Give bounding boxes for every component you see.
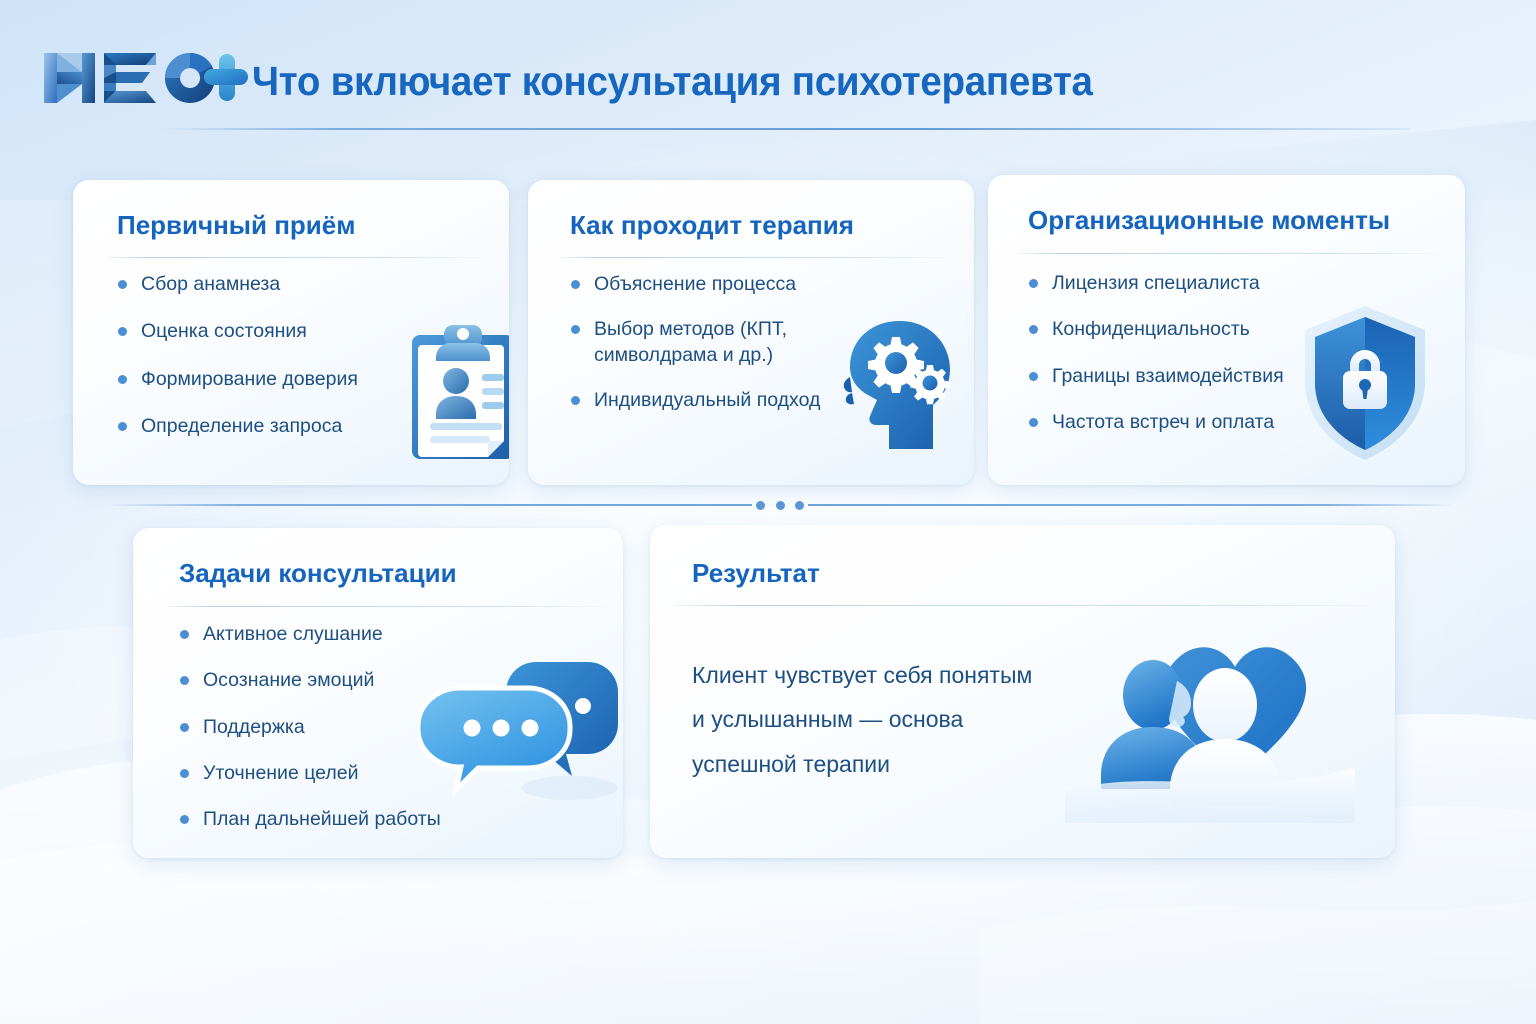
- result-body-text: Клиент чувствует себя понятым и услышанн…: [692, 653, 1092, 786]
- card-organizational: Организационные моменты Лицензия специал…: [988, 175, 1465, 485]
- card-title-divider: [674, 605, 1369, 606]
- card-therapy-process: Как проходит терапия Объяснение процесса…: [528, 180, 974, 485]
- card-consultation-tasks: Задачи консультации Активное слушание Ос…: [133, 528, 623, 858]
- list-item: Осознание эмоций: [177, 668, 441, 693]
- heart-people-icon: [1065, 623, 1355, 823]
- card-title: Как проходит терапия: [570, 210, 854, 241]
- page-title: Что включает консультация психотерапевта: [252, 58, 1093, 105]
- list-item: Лицензия специалиста: [1026, 271, 1284, 296]
- page-header: Что включает консультация психотерапевта: [0, 0, 1536, 140]
- card-title: Результат: [692, 558, 820, 589]
- list-item: Выбор методов (КПТ, символдрама и др.): [568, 317, 853, 368]
- bullet-list: Лицензия специалиста Конфиденциальность …: [1026, 271, 1284, 456]
- card-title-divider: [167, 606, 604, 607]
- clipboard-profile-icon: [398, 317, 509, 467]
- list-item: Сбор анамнеза: [115, 272, 358, 297]
- list-item: Частота встреч и оплата: [1026, 410, 1284, 435]
- result-line: успешной терапии: [692, 742, 1092, 786]
- bullet-list: Активное слушание Осознание эмоций Подде…: [177, 622, 441, 854]
- three-dots-divider-icon: [756, 499, 804, 511]
- bullet-list: Объяснение процесса Выбор методов (КПТ, …: [568, 272, 853, 433]
- neo-plus-logo: [38, 44, 248, 112]
- list-item: Определение запроса: [115, 414, 358, 439]
- head-gears-icon: [838, 315, 958, 465]
- card-title: Первичный приём: [117, 210, 355, 241]
- list-item: Формирование доверия: [115, 367, 358, 392]
- result-line: и услышанным — основа: [692, 697, 1092, 741]
- list-item: Конфиденциальность: [1026, 317, 1284, 342]
- shield-lock-icon: [1295, 300, 1435, 465]
- card-title: Организационные моменты: [1028, 205, 1390, 236]
- result-line: Клиент чувствует себя понятым: [692, 653, 1092, 697]
- list-item: Оценка состояния: [115, 319, 358, 344]
- list-item: Границы взаимодействия: [1026, 364, 1284, 389]
- card-primary-appointment: Первичный приём Сбор анамнеза Оценка сос…: [73, 180, 509, 485]
- list-item: Индивидуальный подход: [568, 388, 853, 413]
- list-item: Объяснение процесса: [568, 272, 853, 297]
- list-item: Поддержка: [177, 715, 441, 740]
- card-title-divider: [560, 257, 943, 258]
- card-title-divider: [1018, 253, 1438, 254]
- chat-bubbles-icon: [418, 640, 618, 810]
- card-title: Задачи консультации: [179, 558, 457, 589]
- section-divider: [0, 490, 1536, 520]
- card-title-divider: [107, 257, 482, 258]
- header-divider: [160, 128, 1410, 130]
- divider-line-right: [808, 504, 1450, 506]
- list-item: План дальнейшей работы: [177, 807, 441, 832]
- list-item: Уточнение целей: [177, 761, 441, 786]
- bullet-list: Сбор анамнеза Оценка состояния Формирова…: [115, 272, 358, 461]
- card-result: Результат Клиент чувствует себя понятым …: [650, 525, 1395, 858]
- divider-line-left: [112, 504, 752, 506]
- list-item: Активное слушание: [177, 622, 441, 647]
